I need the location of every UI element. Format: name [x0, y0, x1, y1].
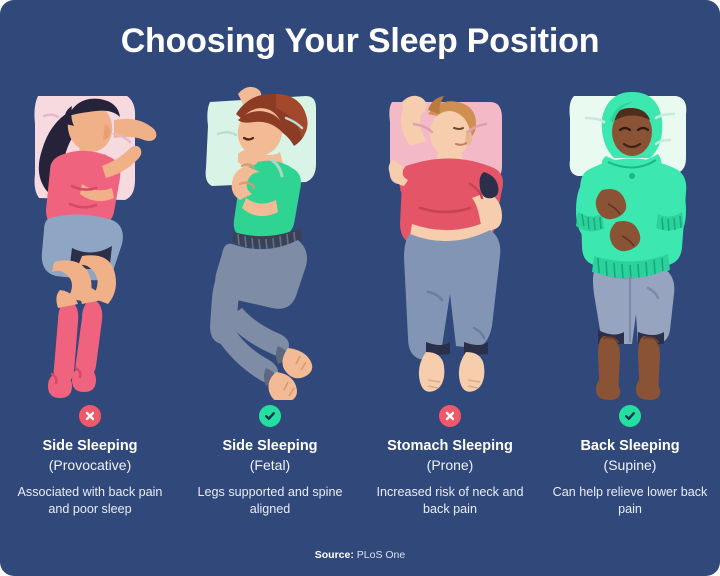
source-value: PLoS One — [357, 549, 405, 561]
cross-icon — [443, 409, 457, 423]
side-sleeping-provocative-illustration — [10, 80, 170, 400]
positions-row: Side Sleeping (Provocative) Associated w… — [0, 80, 720, 535]
position-description: Increased risk of neck and back pain — [370, 484, 530, 518]
check-icon — [263, 409, 277, 423]
back-sleeping-supine-illustration — [550, 80, 710, 400]
infographic-card: Choosing Your Sleep Position — [0, 0, 720, 576]
position-description: Can help relieve lower back pain — [550, 484, 710, 518]
position-name: Stomach Sleeping — [387, 437, 513, 456]
position-name: Side Sleeping — [42, 437, 137, 456]
position-subtitle: (Provocative) — [49, 456, 131, 475]
position-name: Back Sleeping — [580, 437, 679, 456]
verdict-badge-good — [619, 405, 641, 427]
verdict-badge-good — [259, 405, 281, 427]
source-credit: Source: PLoS One — [0, 548, 720, 562]
side-sleeping-fetal-illustration — [190, 80, 350, 400]
position-description: Legs supported and spine aligned — [190, 484, 350, 518]
page-title: Choosing Your Sleep Position — [0, 21, 720, 61]
cross-icon — [83, 409, 97, 423]
position-column-side-provocative[interactable]: Side Sleeping (Provocative) Associated w… — [0, 80, 180, 535]
check-icon — [623, 409, 637, 423]
position-name: Side Sleeping — [222, 437, 317, 456]
position-description: Associated with back pain and poor sleep — [10, 484, 170, 518]
position-column-stomach-prone[interactable]: Stomach Sleeping (Prone) Increased risk … — [360, 80, 540, 535]
verdict-badge-bad — [79, 405, 101, 427]
position-subtitle: (Supine) — [604, 456, 657, 475]
position-subtitle: (Fetal) — [250, 456, 290, 475]
position-subtitle: (Prone) — [427, 456, 474, 475]
position-column-side-fetal[interactable]: Side Sleeping (Fetal) Legs supported and… — [180, 80, 360, 535]
stomach-sleeping-prone-illustration — [370, 80, 530, 400]
source-label: Source: — [315, 549, 354, 561]
position-column-back-supine[interactable]: Back Sleeping (Supine) Can help relieve … — [540, 80, 720, 535]
verdict-badge-bad — [439, 405, 461, 427]
